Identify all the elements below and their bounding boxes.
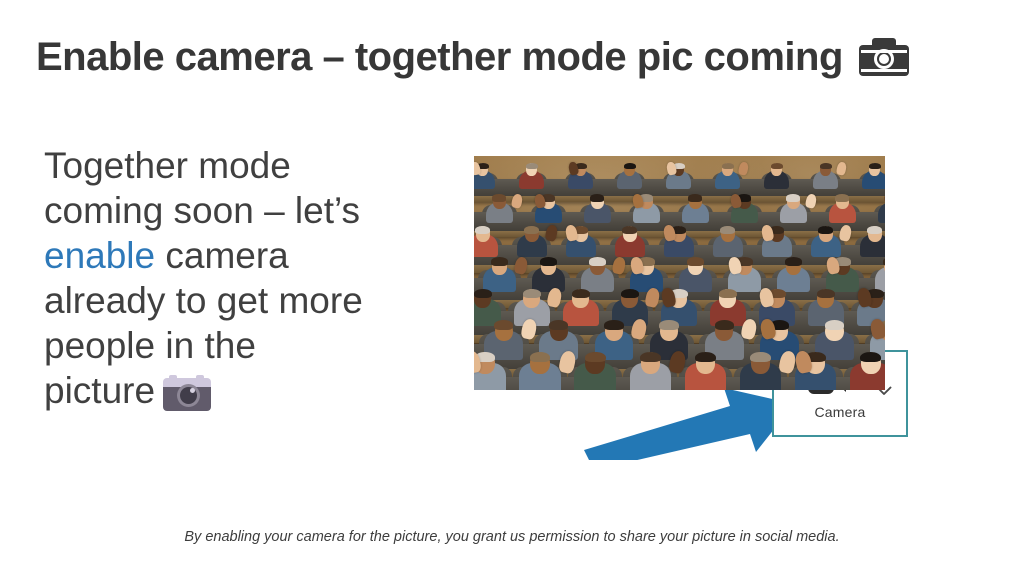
body-line-2: coming soon – let’s [44,190,360,231]
page-title-text: Enable camera – together mode pic coming [36,37,843,77]
body-line-4: already to get more [44,280,363,321]
together-mode-photo [474,156,885,390]
body-line-5: people in the [44,325,256,366]
callout-arrow-icon [580,378,800,460]
body-line-1: Together mode [44,145,291,186]
camera-emoji-icon [859,38,909,76]
page-title: Enable camera – together mode pic coming [36,26,996,88]
body-accent-word: enable [44,235,155,276]
body-line-3-rest: camera [155,235,289,276]
body-paragraph: Together mode coming soon – let’s enable… [44,143,444,413]
camera-label: Camera [774,404,906,420]
footer-disclaimer: By enabling your camera for the picture,… [0,529,1024,545]
camera-emoji-icon-body [163,375,211,411]
body-line-6: picture [44,370,155,411]
